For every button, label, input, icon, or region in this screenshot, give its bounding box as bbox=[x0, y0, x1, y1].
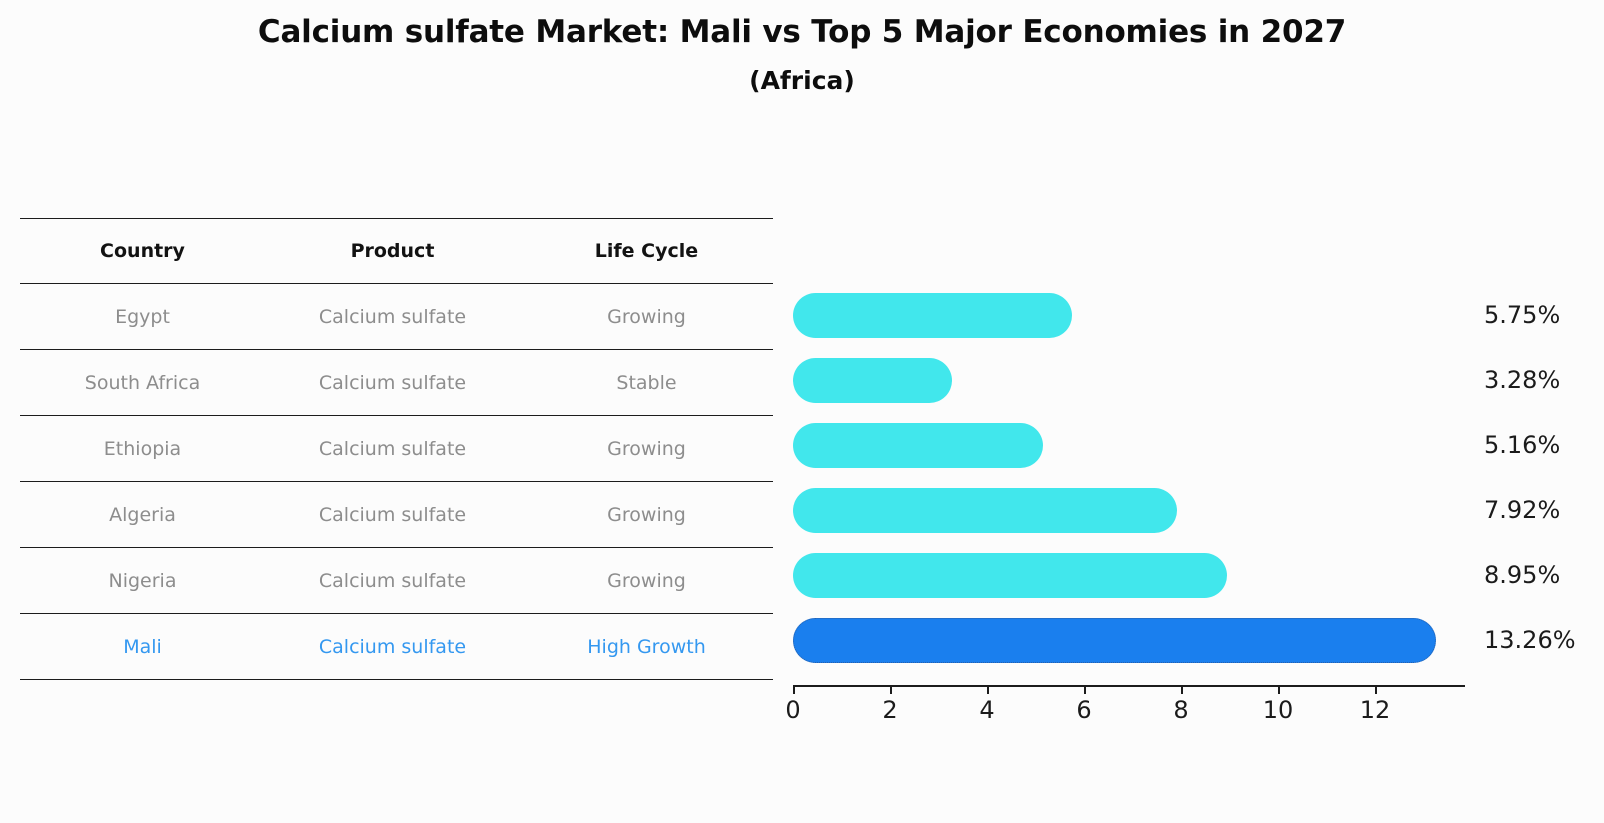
x-axis-tick bbox=[1084, 685, 1086, 694]
cell-product: Calcium sulfate bbox=[265, 350, 520, 416]
column-header-country: Country bbox=[20, 219, 265, 284]
bar-value-label: 3.28% bbox=[1484, 358, 1560, 403]
column-header-product: Product bbox=[265, 219, 520, 284]
table-body: Egypt Calcium sulfate Growing South Afri… bbox=[20, 284, 773, 680]
table-row: Algeria Calcium sulfate Growing bbox=[20, 482, 773, 548]
x-axis-tick bbox=[890, 685, 892, 694]
bar-value-label: 5.16% bbox=[1484, 423, 1560, 468]
cell-country: Egypt bbox=[20, 284, 265, 350]
x-axis-tick-label: 6 bbox=[1054, 696, 1114, 724]
table-header: Country Product Life Cycle bbox=[20, 219, 773, 284]
cell-life-cycle: Growing bbox=[520, 416, 773, 482]
cell-country: South Africa bbox=[20, 350, 265, 416]
x-axis-tick bbox=[793, 685, 795, 694]
cell-product: Calcium sulfate bbox=[265, 482, 520, 548]
bar-value-label: 8.95% bbox=[1484, 553, 1560, 598]
cell-product: Calcium sulfate bbox=[265, 548, 520, 614]
bar-nigeria bbox=[793, 553, 1227, 598]
cell-product: Calcium sulfate bbox=[265, 614, 520, 680]
cell-life-cycle: High Growth bbox=[520, 614, 773, 680]
x-axis-line bbox=[793, 685, 1465, 687]
cell-life-cycle: Stable bbox=[520, 350, 773, 416]
bar-mali bbox=[793, 618, 1436, 663]
table-row: Nigeria Calcium sulfate Growing bbox=[20, 548, 773, 614]
country-table: Country Product Life Cycle Egypt Calcium… bbox=[20, 218, 773, 680]
cell-country: Algeria bbox=[20, 482, 265, 548]
x-axis-tick bbox=[987, 685, 989, 694]
x-axis-tick-label: 12 bbox=[1345, 696, 1405, 724]
table-row-highlighted: Mali Calcium sulfate High Growth bbox=[20, 614, 773, 680]
column-header-life-cycle: Life Cycle bbox=[520, 219, 773, 284]
country-table-panel: Country Product Life Cycle Egypt Calcium… bbox=[20, 218, 773, 680]
table-row: South Africa Calcium sulfate Stable bbox=[20, 350, 773, 416]
x-axis-tick-label: 10 bbox=[1248, 696, 1308, 724]
cell-country: Nigeria bbox=[20, 548, 265, 614]
cell-country: Ethiopia bbox=[20, 416, 265, 482]
bar-ethiopia bbox=[793, 423, 1043, 468]
cell-product: Calcium sulfate bbox=[265, 416, 520, 482]
bar-value-label: 5.75% bbox=[1484, 293, 1560, 338]
title-block: Calcium sulfate Market: Mali vs Top 5 Ma… bbox=[0, 12, 1604, 97]
x-axis-tick bbox=[1181, 685, 1183, 694]
table-row: Ethiopia Calcium sulfate Growing bbox=[20, 416, 773, 482]
bar-value-label: 13.26% bbox=[1484, 618, 1576, 663]
x-axis-tick-label: 0 bbox=[763, 696, 823, 724]
cell-life-cycle: Growing bbox=[520, 284, 773, 350]
cell-life-cycle: Growing bbox=[520, 482, 773, 548]
cell-country: Mali bbox=[20, 614, 265, 680]
x-axis-tick-label: 8 bbox=[1151, 696, 1211, 724]
cell-product: Calcium sulfate bbox=[265, 284, 520, 350]
cell-life-cycle: Growing bbox=[520, 548, 773, 614]
bar-value-label: 7.92% bbox=[1484, 488, 1560, 533]
page-subtitle: (Africa) bbox=[0, 65, 1604, 98]
x-axis-tick bbox=[1278, 685, 1280, 694]
bar-south-africa bbox=[793, 358, 952, 403]
x-axis-tick-label: 2 bbox=[860, 696, 920, 724]
bar-algeria bbox=[793, 488, 1177, 533]
x-axis-tick-label: 4 bbox=[957, 696, 1017, 724]
table-row: Egypt Calcium sulfate Growing bbox=[20, 284, 773, 350]
table-header-row: Country Product Life Cycle bbox=[20, 219, 773, 284]
page-title: Calcium sulfate Market: Mali vs Top 5 Ma… bbox=[0, 12, 1604, 53]
bar-egypt bbox=[793, 293, 1072, 338]
x-axis-tick bbox=[1375, 685, 1377, 694]
